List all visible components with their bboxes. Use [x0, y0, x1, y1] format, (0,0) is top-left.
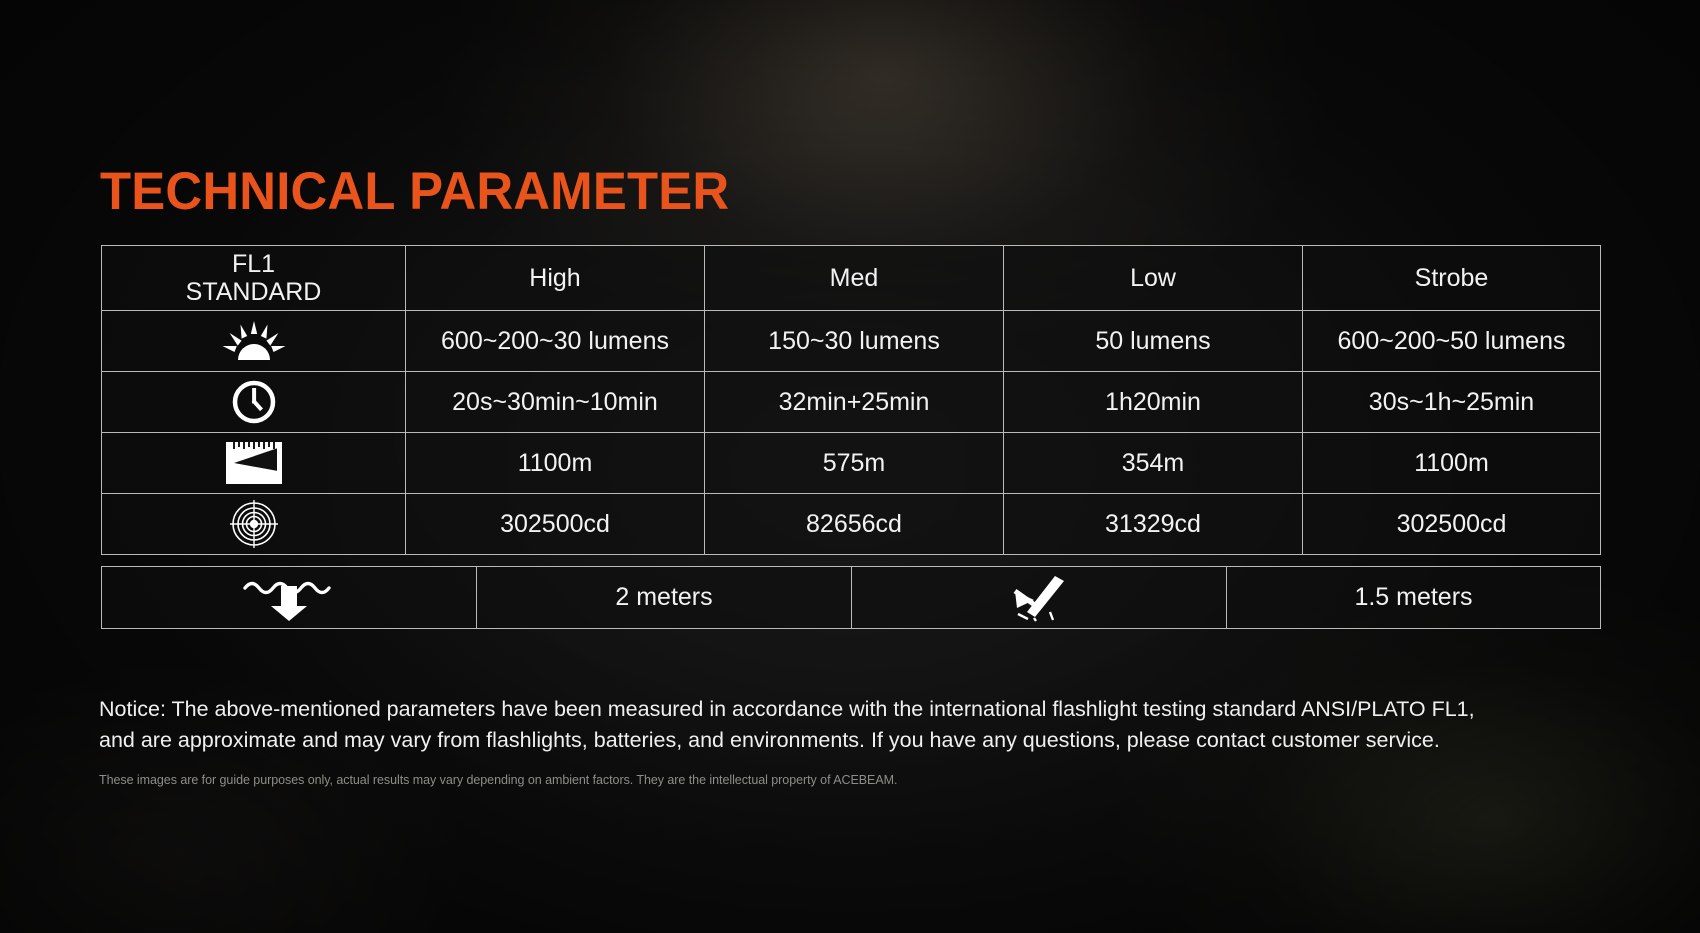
- page-title: TECHNICAL PARAMETER: [100, 165, 729, 218]
- intensity-row-icon-cell: [102, 494, 406, 555]
- cell-runtime-low: 1h20min: [1004, 372, 1303, 433]
- runtime-row-icon-cell: [102, 372, 406, 433]
- cell-intensity-high: 302500cd: [406, 494, 705, 555]
- cell-intensity-med: 82656cd: [705, 494, 1004, 555]
- runtime-clock-icon: [231, 379, 277, 425]
- notice-line-2: and are approximate and may vary from fl…: [99, 725, 1599, 756]
- mode-header-med: Med: [705, 246, 1004, 311]
- cell-lumens-med: 150~30 lumens: [705, 311, 1004, 372]
- notice-text: Notice: The above-mentioned parameters h…: [99, 694, 1599, 755]
- cell-runtime-med: 32min+25min: [705, 372, 1004, 433]
- fl1-standard-line1: FL1: [102, 250, 405, 278]
- cell-distance-strobe: 1100m: [1303, 433, 1601, 494]
- spec-table-wrapper: FL1 STANDARD High Med Low Strobe: [101, 245, 1600, 629]
- impact-resistance-value: 1.5 meters: [1227, 567, 1601, 629]
- cell-lumens-high: 600~200~30 lumens: [406, 311, 705, 372]
- fl1-standard-header: FL1 STANDARD: [102, 246, 406, 311]
- beam-distance-icon: [226, 439, 282, 487]
- notice-line-1: Notice: The above-mentioned parameters h…: [99, 694, 1599, 725]
- brightness-row-icon-cell: [102, 311, 406, 372]
- water-resistance-icon: [241, 574, 337, 622]
- brightness-sun-icon: [221, 321, 287, 361]
- table-row: 20s~30min~10min 32min+25min 1h20min 30s~…: [102, 372, 1601, 433]
- mode-header-strobe: Strobe: [1303, 246, 1601, 311]
- cell-intensity-low: 31329cd: [1004, 494, 1303, 555]
- water-resistance-icon-cell: [102, 567, 477, 629]
- ratings-row: 2 meters 1.5 met: [102, 567, 1601, 629]
- fl1-standard-line2: STANDARD: [102, 278, 405, 306]
- impact-resistance-icon-cell: [852, 567, 1227, 629]
- cell-distance-med: 575m: [705, 433, 1004, 494]
- beam-distance-row-icon-cell: [102, 433, 406, 494]
- table-row: 1100m 575m 354m 1100m: [102, 433, 1601, 494]
- cell-distance-high: 1100m: [406, 433, 705, 494]
- table-header-row: FL1 STANDARD High Med Low Strobe: [102, 246, 1601, 311]
- cell-lumens-low: 50 lumens: [1004, 311, 1303, 372]
- cell-runtime-high: 20s~30min~10min: [406, 372, 705, 433]
- cell-runtime-strobe: 30s~1h~25min: [1303, 372, 1601, 433]
- fineprint-text: These images are for guide purposes only…: [99, 772, 1599, 788]
- table-row: 302500cd 82656cd 31329cd 302500cd: [102, 494, 1601, 555]
- cell-distance-low: 354m: [1004, 433, 1303, 494]
- cell-lumens-strobe: 600~200~50 lumens: [1303, 311, 1601, 372]
- mode-header-high: High: [406, 246, 705, 311]
- ratings-table: 2 meters 1.5 met: [101, 566, 1601, 629]
- mode-header-low: Low: [1004, 246, 1303, 311]
- table-row: 600~200~30 lumens 150~30 lumens 50 lumen…: [102, 311, 1601, 372]
- cell-intensity-strobe: 302500cd: [1303, 494, 1601, 555]
- water-resistance-value: 2 meters: [477, 567, 852, 629]
- peak-beam-intensity-icon: [229, 499, 279, 549]
- technical-parameter-panel: TECHNICAL PARAMETER FL1 STANDARD High Me…: [0, 0, 1700, 933]
- impact-resistance-icon: [1008, 574, 1070, 622]
- spec-table: FL1 STANDARD High Med Low Strobe: [101, 245, 1601, 555]
